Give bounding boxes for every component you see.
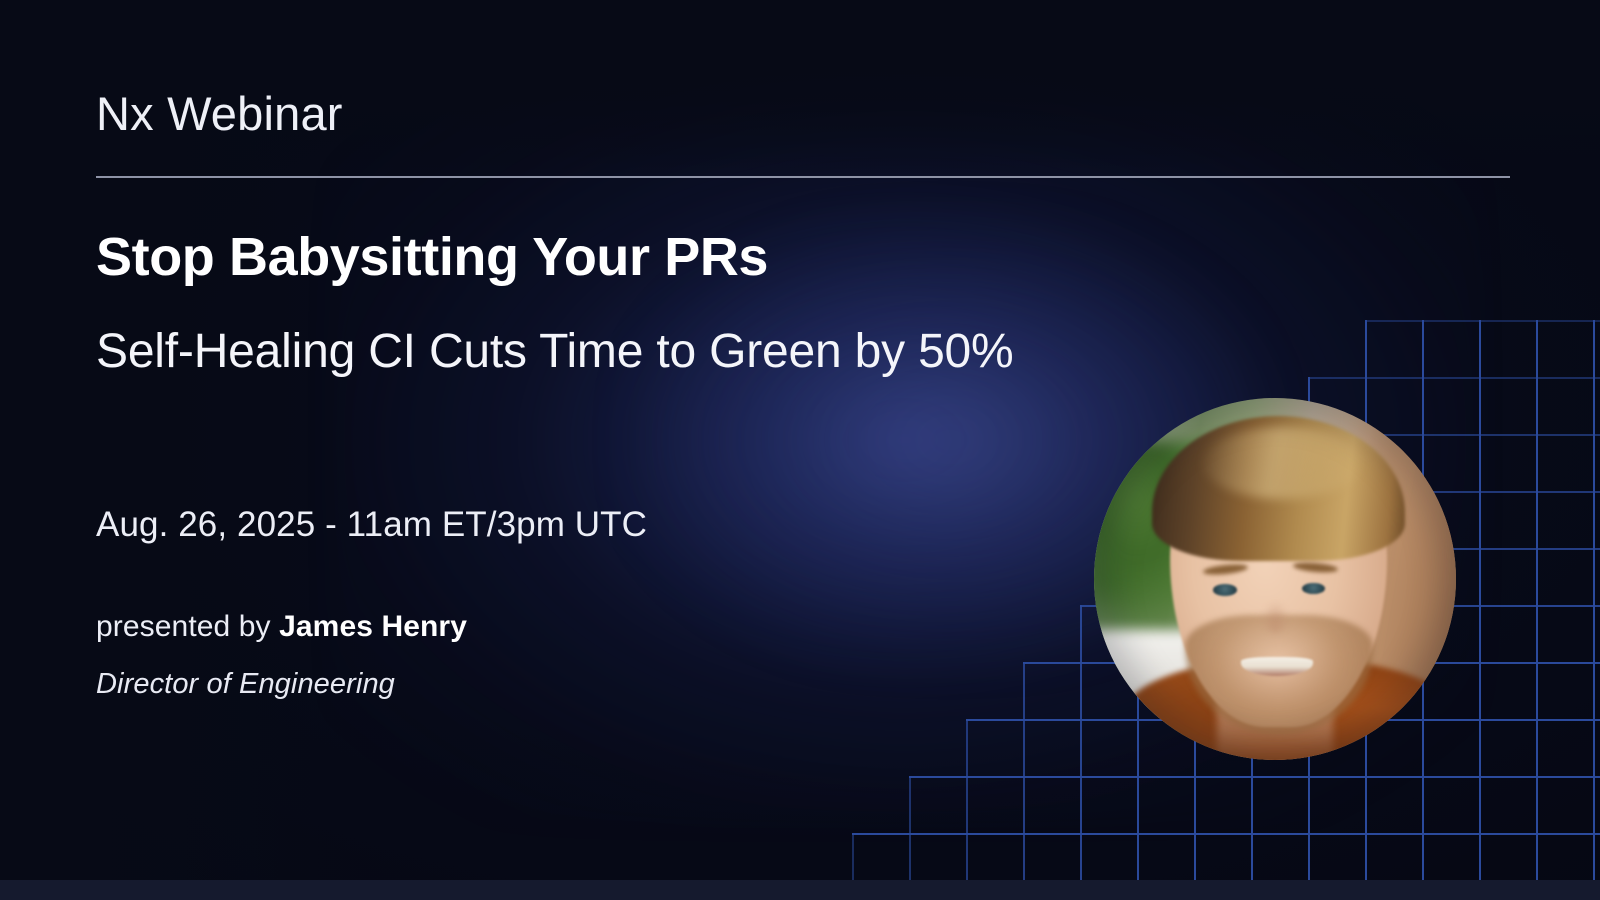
presenter-name: James Henry: [279, 610, 467, 643]
grid-line-horizontal: [1365, 320, 1600, 322]
grid-line-vertical: [1080, 605, 1082, 880]
presenter-role: Director of Engineering: [96, 668, 395, 701]
avatar-edge-shadow: [1094, 398, 1456, 760]
presenter-line: presented by James Henry: [96, 610, 467, 644]
page-title: Stop Babysitting Your PRs: [96, 228, 768, 286]
grid-line-horizontal: [909, 776, 1600, 778]
grid-line-vertical: [1593, 320, 1595, 880]
grid-line-vertical: [1479, 320, 1481, 880]
grid-line-vertical: [909, 776, 911, 880]
presented-by-label: presented by: [96, 610, 271, 643]
grid-line-vertical: [1536, 320, 1538, 880]
webinar-promo-card: Nx Webinar Stop Babysitting Your PRs Sel…: [0, 0, 1600, 900]
eyebrow-label: Nx Webinar: [96, 88, 343, 140]
grid-line-vertical: [852, 833, 854, 880]
grid-line-vertical: [1023, 662, 1025, 880]
grid-line-horizontal: [852, 833, 1600, 835]
webinar-datetime: Aug. 26, 2025 - 11am ET/3pm UTC: [96, 505, 647, 545]
divider: [96, 176, 1510, 178]
grid-line-horizontal: [1308, 377, 1600, 379]
page-subtitle: Self-Healing CI Cuts Time to Green by 50…: [96, 316, 1096, 387]
avatar: [1094, 398, 1456, 760]
bottom-strip: [0, 880, 1600, 900]
grid-line-vertical: [966, 719, 968, 880]
